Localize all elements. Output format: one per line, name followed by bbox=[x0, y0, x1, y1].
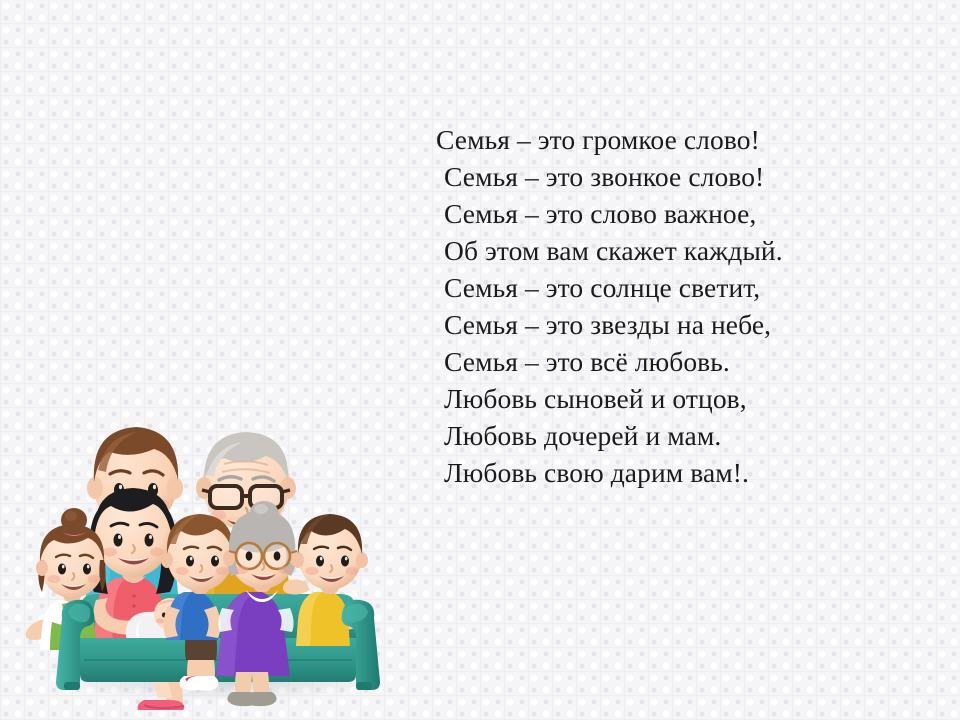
poem-line: Семья – это слово важное, bbox=[430, 195, 930, 232]
sofa-foot-left bbox=[64, 682, 80, 690]
poem-line: Семья – это звезды на небе, bbox=[430, 306, 930, 343]
slide-canvas: Семья – это громкое слово! Семья – это з… bbox=[0, 0, 960, 720]
poem-line: Любовь дочерей и мам. bbox=[430, 417, 930, 454]
family-illustration-svg bbox=[18, 360, 418, 710]
poem-line: Любовь сыновей и отцов, bbox=[430, 380, 930, 417]
poem-line: Об этом вам скажет каждый. bbox=[430, 232, 930, 269]
poem-line: Семья – это громкое слово! bbox=[430, 121, 930, 158]
poem-line: Семья – это всё любовь. bbox=[430, 343, 930, 380]
poem-line: Любовь свою дарим вам!. bbox=[430, 454, 930, 491]
grandmother-slipper-right bbox=[245, 692, 277, 706]
poem-line: Семья – это солнце светит, bbox=[430, 269, 930, 306]
sofa-foot-right bbox=[356, 682, 372, 690]
poem-line: Семья – это звонкое слово! bbox=[430, 158, 930, 195]
family-illustration bbox=[18, 360, 418, 710]
poem-text-block: Семья – это громкое слово! Семья – это з… bbox=[430, 121, 930, 491]
